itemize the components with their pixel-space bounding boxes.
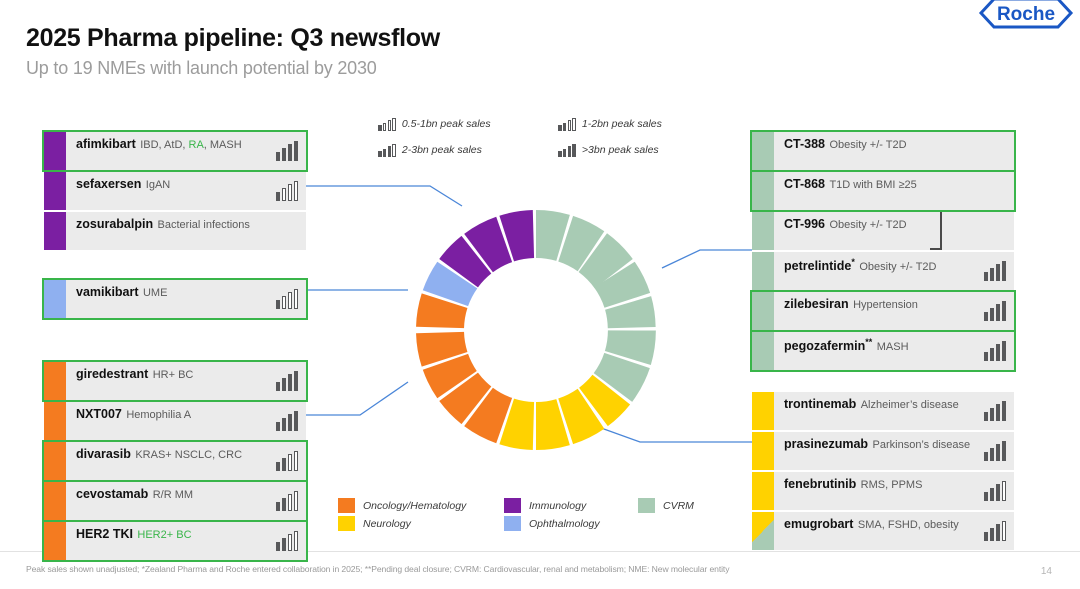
bar-indicator-icon <box>984 401 1007 421</box>
bar-indicator-icon <box>276 491 299 511</box>
legend-item-immunology: Immunology <box>504 498 586 513</box>
bar-indicator-icon <box>984 301 1007 321</box>
legend-label: CVRM <box>663 500 694 512</box>
drug-indication: MASH <box>877 341 909 353</box>
drug-name: divarasib <box>76 447 131 461</box>
footnote-marker: ** <box>865 337 872 347</box>
pipeline-group-neurology: trontinemab Alzheimer’s disease prasinez… <box>752 392 1014 550</box>
category-chip-cvrm <box>752 332 774 370</box>
drug-name: vamikibart <box>76 285 139 299</box>
pipeline-row[interactable]: CT-868 T1D with BMI ≥25 <box>752 172 1014 210</box>
bar-indicator-icon <box>276 371 299 391</box>
drug-indication: Hemophilia A <box>126 409 191 421</box>
drug-name: prasinezumab <box>784 437 868 451</box>
category-chip-immunology <box>44 172 66 210</box>
drug-name: petrelintide* <box>784 259 855 273</box>
drug-indication: Parkinson’s disease <box>873 439 971 451</box>
drug-indication: KRAS+ NSCLC, CRC <box>135 449 242 461</box>
drug-indication: HR+ BC <box>153 369 194 381</box>
pipeline-row[interactable]: giredestrant HR+ BC <box>44 362 306 400</box>
category-chip-oncology <box>44 402 66 440</box>
legend-swatch-neurology <box>338 516 355 531</box>
bar-indicator-icon <box>378 118 396 131</box>
legend-label: Immunology <box>529 500 586 512</box>
pipeline-group-immunology: afimkibart IBD, AtD, RA, MASH sefaxersen… <box>44 132 306 250</box>
bar-indicator-icon <box>984 481 1007 501</box>
category-chip-cvrm <box>752 172 774 210</box>
drug-name: CT-868 <box>784 177 825 191</box>
category-chip-neurology <box>752 432 774 470</box>
pipeline-row[interactable]: zilebesiran Hypertension <box>752 292 1014 330</box>
drug-indication: Obesity +/- T2D <box>829 139 906 151</box>
legend-item-ophthalmology: Ophthalmology <box>504 516 600 531</box>
drug-name: NXT007 <box>76 407 122 421</box>
bar-indicator-icon <box>276 289 299 309</box>
category-chip-oncology <box>44 442 66 480</box>
category-chip-neurology <box>752 392 774 430</box>
sales-legend-label: 0.5-1bn peak sales <box>402 118 491 131</box>
bar-indicator-icon <box>984 261 1007 281</box>
page-number: 14 <box>1041 566 1052 577</box>
pipeline-row[interactable]: petrelintide* Obesity +/- T2D <box>752 252 1014 290</box>
page-subtitle: Up to 19 NMEs with launch potential by 2… <box>26 58 377 79</box>
pipeline-row[interactable]: CT-388 Obesity +/- T2D <box>752 132 1014 170</box>
drug-name: cevostamab <box>76 487 148 501</box>
drug-name: giredestrant <box>76 367 148 381</box>
drug-indication: Obesity +/- T2D <box>829 219 906 231</box>
category-chip-oncology <box>44 362 66 400</box>
drug-indication: R/R MM <box>153 489 193 501</box>
pipeline-row[interactable]: fenebrutinib RMS, PPMS <box>752 472 1014 510</box>
page-title: 2025 Pharma pipeline: Q3 newsflow <box>26 24 440 53</box>
legend-swatch-cvrm <box>638 498 655 513</box>
drug-name: CT-996 <box>784 217 825 231</box>
drug-name: CT-388 <box>784 137 825 151</box>
sales-legend-item: >3bn peak sales <box>558 144 659 157</box>
pipeline-group-cvrm: petrelintide* Obesity +/- T2D zilebesira… <box>752 252 1014 370</box>
drug-indication: Bacterial infections <box>158 219 250 231</box>
bar-indicator-icon <box>276 451 299 471</box>
category-chip-cvrm <box>752 212 774 250</box>
category-chip-cvrm <box>752 132 774 170</box>
pipeline-row[interactable]: HER2 TKI HER2+ BC <box>44 522 306 560</box>
drug-indication: SMA, FSHD, obesity <box>858 519 959 531</box>
pipeline-row[interactable]: prasinezumab Parkinson’s disease <box>752 432 1014 470</box>
pipeline-row[interactable]: vamikibart UME <box>44 280 306 318</box>
bar-indicator-icon <box>984 341 1007 361</box>
category-chip-immunology <box>44 132 66 170</box>
right-pipeline-column: CT-388 Obesity +/- T2D CT-868 T1D with B… <box>752 132 1014 550</box>
pipeline-row[interactable]: emugrobart SMA, FSHD, obesity <box>752 512 1014 550</box>
bar-indicator-icon <box>984 441 1007 461</box>
sales-legend-item: 2-3bn peak sales <box>378 144 482 157</box>
bar-indicator-icon <box>276 411 299 431</box>
pipeline-donut-chart <box>392 186 680 474</box>
legend-swatch-oncology <box>338 498 355 513</box>
indication-highlight: RA <box>189 139 204 151</box>
pipeline-row[interactable]: zosurabalpin Bacterial infections <box>44 212 306 250</box>
drug-indication: UME <box>143 287 167 299</box>
bar-indicator-icon <box>276 531 299 551</box>
sales-legend-item: 1-2bn peak sales <box>558 118 662 131</box>
sales-legend-item: 0.5-1bn peak sales <box>378 118 491 131</box>
drug-indication: RMS, PPMS <box>861 479 923 491</box>
legend-label: Oncology/Hematology <box>363 500 466 512</box>
pipeline-row[interactable]: pegozafermin** MASH <box>752 332 1014 370</box>
drug-indication: HER2+ BC <box>137 529 191 541</box>
drug-indication: Obesity +/- T2D <box>859 261 936 273</box>
bar-indicator-icon <box>558 118 576 131</box>
drug-name: pegozafermin** <box>784 339 872 353</box>
pipeline-row[interactable]: sefaxersen IgAN <box>44 172 306 210</box>
pipeline-row[interactable]: NXT007 Hemophilia A <box>44 402 306 440</box>
drug-name: zilebesiran <box>784 297 849 311</box>
drug-indication: Hypertension <box>853 299 918 311</box>
pipeline-group-ct: CT-388 Obesity +/- T2D CT-868 T1D with B… <box>752 132 1014 250</box>
category-chip-oncology <box>44 482 66 520</box>
drug-name: sefaxersen <box>76 177 141 191</box>
footnote-text: Peak sales shown unadjusted; *Zealand Ph… <box>26 564 729 574</box>
left-pipeline-column: afimkibart IBD, AtD, RA, MASH sefaxersen… <box>44 132 306 560</box>
category-chip-neurology <box>752 472 774 510</box>
legend-swatch-ophthalmology <box>504 516 521 531</box>
bar-indicator-icon <box>984 521 1007 541</box>
bar-indicator-icon <box>276 141 299 161</box>
category-chip-cvrm <box>752 292 774 330</box>
pipeline-row[interactable]: divarasib KRAS+ NSCLC, CRC <box>44 442 306 480</box>
drug-name: fenebrutinib <box>784 477 856 491</box>
drug-name: zosurabalpin <box>76 217 153 231</box>
drug-name: afimkibart <box>76 137 136 151</box>
category-chip-cvrm <box>752 252 774 290</box>
drug-name: HER2 TKI <box>76 527 133 541</box>
sales-legend-label: 1-2bn peak sales <box>582 118 662 131</box>
pipeline-group-oncology: giredestrant HR+ BC NXT007 Hemophilia A … <box>44 362 306 560</box>
legend-label: Ophthalmology <box>529 518 600 530</box>
footnote-marker: * <box>851 257 855 267</box>
pipeline-row[interactable]: afimkibart IBD, AtD, RA, MASH <box>44 132 306 170</box>
pipeline-row[interactable]: cevostamab R/R MM <box>44 482 306 520</box>
sales-legend-label: >3bn peak sales <box>582 144 659 157</box>
legend-label: Neurology <box>363 518 411 530</box>
bar-indicator-icon <box>558 144 576 157</box>
drug-indication: Alzheimer’s disease <box>861 399 959 411</box>
bar-indicator-icon <box>276 181 299 201</box>
pipeline-row[interactable]: CT-996 Obesity +/- T2D <box>752 212 1014 250</box>
category-chip-neurology-cvrm <box>752 512 774 550</box>
legend-item-neurology: Neurology <box>338 516 411 531</box>
sales-legend-label: 2-3bn peak sales <box>402 144 482 157</box>
bar-indicator-icon <box>378 144 396 157</box>
pipeline-row[interactable]: trontinemab Alzheimer’s disease <box>752 392 1014 430</box>
pipeline-group-ophthalmology: vamikibart UME <box>44 280 306 318</box>
roche-logo: Roche <box>978 0 1074 30</box>
category-chip-ophthalmology <box>44 280 66 318</box>
legend-item-oncology: Oncology/Hematology <box>338 498 466 513</box>
roche-logo-text: Roche <box>997 4 1055 25</box>
drug-indication: T1D with BMI ≥25 <box>829 179 916 191</box>
drug-name: emugrobart <box>784 517 853 531</box>
legend-swatch-immunology <box>504 498 521 513</box>
category-chip-oncology <box>44 522 66 560</box>
category-chip-immunology <box>44 212 66 250</box>
drug-name: trontinemab <box>784 397 856 411</box>
drug-indication: IBD, AtD, RA, MASH <box>140 139 241 151</box>
drug-indication: IgAN <box>146 179 170 191</box>
legend-item-cvrm: CVRM <box>638 498 694 513</box>
